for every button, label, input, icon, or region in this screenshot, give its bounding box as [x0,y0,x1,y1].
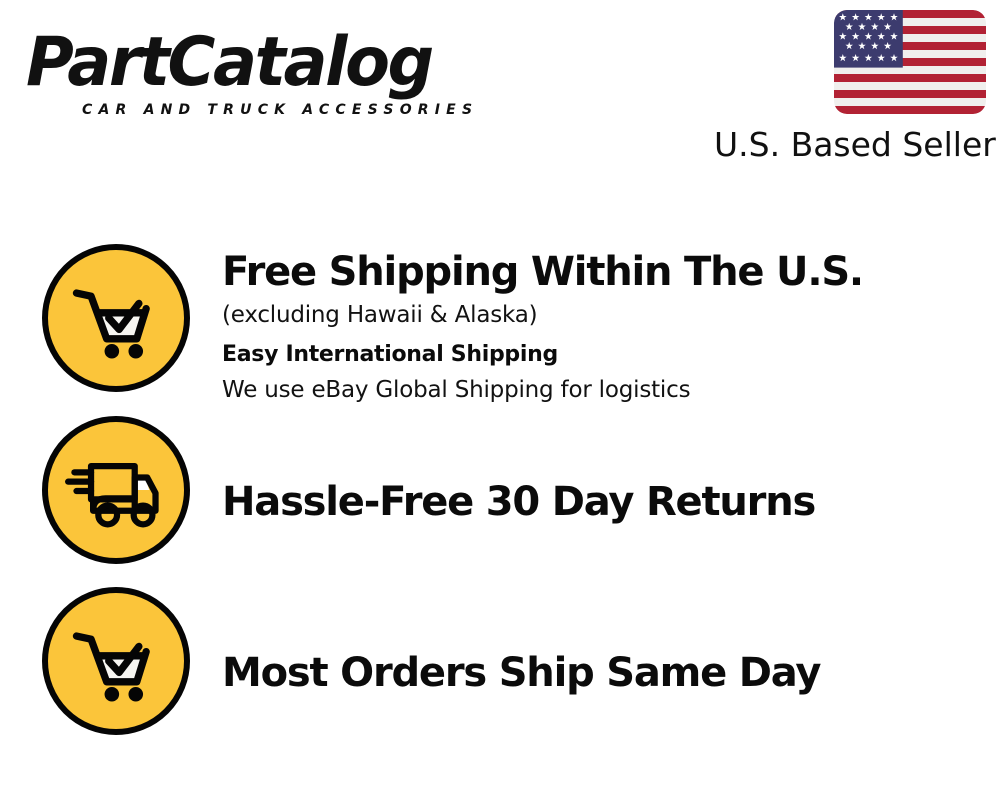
feature-text-block: Most Orders Ship Same Day [222,647,1000,699]
feature-text-block: Hassle-Free 30 Day Returns [222,476,1000,528]
feature-heading: Hassle-Free 30 Day Returns [222,476,1000,528]
feature-row: Most Orders Ship Same Day [0,587,1000,759]
feature-note: (excluding Hawaii & Alaska) [222,298,1000,332]
brand-tagline: CAR AND TRUCK ACCESSORIES [82,102,478,118]
seller-caption: U.S. Based Seller [714,126,986,164]
feature-row: Hassle-Free 30 Day Returns [0,416,1000,588]
feature-text-block: Free Shipping Within The U.S. (excluding… [222,244,1000,407]
feature-heading: Most Orders Ship Same Day [222,647,1000,699]
us-based-seller-badge: U.S. Based Seller [714,10,986,164]
feature-subnote: We use eBay Global Shipping for logistic… [222,373,1000,407]
delivery-truck-icon [42,416,190,564]
us-flag-icon [834,10,986,114]
shopping-cart-check-icon [42,587,190,735]
brand-logo: PartCatalog CAR AND TRUCK ACCESSORIES [26,26,496,118]
shopping-cart-check-icon [42,244,190,392]
feature-row: Free Shipping Within The U.S. (excluding… [0,244,1000,416]
brand-wordmark: PartCatalog [26,26,432,100]
feature-subheading: Easy International Shipping [222,338,1000,372]
feature-heading: Free Shipping Within The U.S. [222,246,1000,298]
